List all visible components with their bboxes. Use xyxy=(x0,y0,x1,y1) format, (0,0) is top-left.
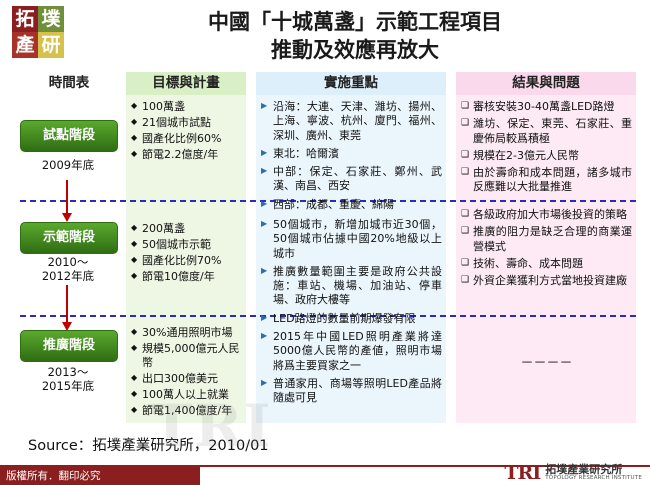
page-footer: 版權所有．翻印必究 TRI 拓墣產業研究所 TOPOLOGY RESEARCH … xyxy=(0,463,650,485)
list-item: 西部：成都、重慶、綿陽 xyxy=(261,198,442,212)
column-header-focus: 實施重點 xyxy=(256,72,446,95)
footer-rights: 版權所有．翻印必究 xyxy=(0,467,200,485)
list-item: 推廣的阻力是缺乏合理的商業運營模式 xyxy=(461,225,632,254)
list-item: 100萬盞 xyxy=(131,100,243,114)
list-item: 國產化比例70% xyxy=(131,254,243,268)
stage-box-demo: 示範階段 xyxy=(20,222,118,254)
focus-cell-pilot: 沿海：大連、天津、濰坊、揚州、上海、寧波、杭州、廈門、福州、深圳、廣州、東莞東北… xyxy=(261,100,442,216)
title-line-1: 中國「十城萬盞」示範工程項目 xyxy=(105,8,605,36)
list-item: 規模5,000億元人民幣 xyxy=(131,342,243,370)
stage-years-promote: 2013～ 2015年底 xyxy=(18,365,118,394)
list-item: 21個城市試點 xyxy=(131,116,243,130)
list-item: 審核安裝30-40萬盞LED路燈 xyxy=(461,100,632,114)
goals-list-demo: 200萬盞50個城市示範國產化比例70%節電10億度/年 xyxy=(131,222,243,284)
logo-block-3: 產 xyxy=(12,32,38,58)
list-item: 沿海：大連、天津、濰坊、揚州、上海、寧波、杭州、廈門、福州、深圳、廣州、東莞 xyxy=(261,100,442,143)
focus-cell-demo: 50個城市，新增加城市近30個，50個城市佔據中國20%地級以上城市推廣數量範圍… xyxy=(261,218,442,330)
list-item: 節電2.2億度/年 xyxy=(131,148,243,162)
list-item: 50個城市，新增加城市近30個，50個城市佔據中國20%地級以上城市 xyxy=(261,218,442,261)
list-item: LED路燈的數量前期爆發有限 xyxy=(261,312,442,326)
results-list-pilot: 審核安裝30-40萬盞LED路燈濰坊、保定、東莞、石家莊、重慶佈局較爲積極規模在… xyxy=(461,100,632,195)
page-title: 中國「十城萬盞」示範工程項目 推動及效應再放大 xyxy=(105,8,605,65)
logo-block-2: 墣 xyxy=(38,6,64,32)
goals-list-pilot: 100萬盞21個城市試點國產化比例60%節電2.2億度/年 xyxy=(131,100,243,162)
footer-brand-names: 拓墣產業研究所 TOPOLOGY RESEARCH INSTITUTE xyxy=(545,464,642,481)
list-item: 出口300億美元 xyxy=(131,372,243,386)
stage-box-pilot: 試點階段 xyxy=(20,120,118,152)
list-item: 東北：哈爾濱 xyxy=(261,147,442,161)
column-header-results: 結果與問題 xyxy=(456,72,636,95)
stage-years-demo: 2010～ 2012年底 xyxy=(18,255,118,284)
goals-cell-pilot: 100萬盞21個城市試點國產化比例60%節電2.2億度/年 xyxy=(131,100,243,164)
goals-cell-demo: 200萬盞50個城市示範國產化比例70%節電10億度/年 xyxy=(131,222,243,286)
results-cell-pilot: 審核安裝30-40萬盞LED路燈濰坊、保定、東莞、石家莊、重慶佈局較爲積極規模在… xyxy=(461,100,632,198)
list-item: 國產化比例60% xyxy=(131,132,243,146)
title-line-2: 推動及效應再放大 xyxy=(105,36,605,64)
list-item: 技術、壽命、成本問題 xyxy=(461,257,632,271)
focus-list-demo: 50個城市，新增加城市近30個，50個城市佔據中國20%地級以上城市推廣數量範圍… xyxy=(261,218,442,326)
list-item: 外資企業獲利方式當地投資建廠 xyxy=(461,274,632,288)
stage-arrow-2 xyxy=(66,285,68,323)
list-item: 規模在2-3億元人民幣 xyxy=(461,149,632,163)
results-cell-demo: 各級政府加大市場後投資的策略推廣的阻力是缺乏合理的商業運營模式技術、壽命、成本問… xyxy=(461,208,632,291)
focus-list-promote: 2015年中國LED照明產業將達5000億人民幣的產値，照明市場將爲主要買家之一… xyxy=(261,330,442,405)
focus-list-pilot: 沿海：大連、天津、濰坊、揚州、上海、寧波、杭州、廈門、福州、深圳、廣州、東莞東北… xyxy=(261,100,442,212)
stage-arrow-1 xyxy=(66,180,68,214)
list-item: 中部：保定、石家莊、鄭州、武漢、南昌、西安 xyxy=(261,165,442,194)
watermark: TRI xyxy=(150,392,272,460)
stage-years-pilot: 2009年底 xyxy=(18,158,118,172)
stage-box-promote: 推廣階段 xyxy=(20,330,118,362)
list-item: 推廣數量範圍主要是政府公共設施：車站、機場、加油站、停車場、政府大樓等 xyxy=(261,265,442,308)
logo-block-1: 拓 xyxy=(12,6,38,32)
list-item: 由於壽命和成本問題，諸多城市反應難以大批量推進 xyxy=(461,166,632,195)
company-logo: 拓 墣 產 研 xyxy=(8,4,92,60)
footer-brand-en: TOPOLOGY RESEARCH INSTITUTE xyxy=(545,476,642,482)
list-item: 200萬盞 xyxy=(131,222,243,236)
results-cell-promote: －－－－ xyxy=(461,352,632,371)
tri-logo-icon: TRI xyxy=(504,462,540,484)
footer-brand: TRI 拓墣產業研究所 TOPOLOGY RESEARCH INSTITUTE xyxy=(504,463,642,483)
list-item: 普通家用、商場等照明LED產品將隨處可見 xyxy=(261,377,442,406)
column-header-timeline: 時間表 xyxy=(22,72,116,95)
results-list-demo: 各級政府加大市場後投資的策略推廣的阻力是缺乏合理的商業運營模式技術、壽命、成本問… xyxy=(461,208,632,288)
list-item: 30%通用照明市場 xyxy=(131,326,243,340)
column-header-goals: 目標與計畫 xyxy=(126,72,246,95)
list-item: 節電10億度/年 xyxy=(131,270,243,284)
list-item: 50個城市示範 xyxy=(131,238,243,252)
logo-block-4: 研 xyxy=(38,32,64,58)
list-item: 2015年中國LED照明產業將達5000億人民幣的產値，照明市場將爲主要買家之一 xyxy=(261,330,442,373)
list-item: 濰坊、保定、東莞、石家莊、重慶佈局較爲積極 xyxy=(461,117,632,146)
list-item: 各級政府加大市場後投資的策略 xyxy=(461,208,632,222)
focus-cell-promote: 2015年中國LED照明產業將達5000億人民幣的產値，照明市場將爲主要買家之一… xyxy=(261,330,442,409)
